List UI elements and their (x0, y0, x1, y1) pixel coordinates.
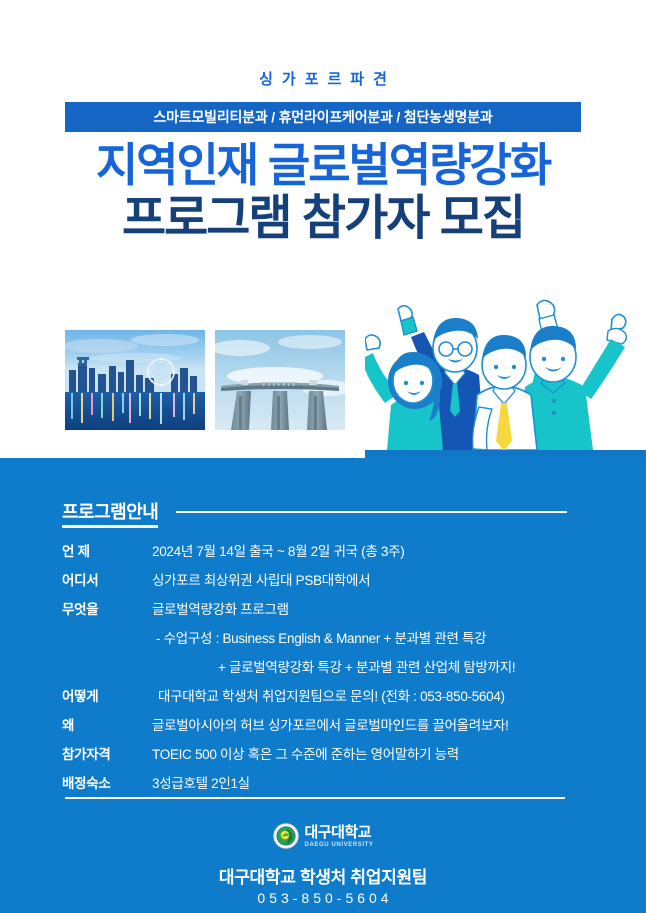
cheering-students-graphic (365, 295, 646, 470)
footer-phone: 053-850-5604 (0, 890, 646, 906)
info-label: 무엇을 (62, 598, 152, 618)
info-row: 언 제 2024년 7월 14일 출국 ~ 8월 2일 귀국 (총 3주) (62, 540, 602, 560)
departments-band-label: 스마트모빌리티분과 / 휴먼라이프케어분과 / 첨단농생명분과 (153, 107, 492, 127)
info-value: TOEIC 500 이상 혹은 그 수준에 준하는 영어말하기 능력 (152, 743, 459, 763)
university-logo: 대구대학교 DAEGU UNIVERSITY (0, 823, 646, 849)
info-label: 왜 (62, 714, 152, 734)
info-value: + 글로벌역량강화 특강 + 분과별 관련 산업체 탐방까지! (152, 656, 515, 676)
departments-band: 스마트모빌리티분과 / 휴먼라이프케어분과 / 첨단농생명분과 (65, 102, 581, 132)
info-value: 글로벌아시아의 허브 싱가포르에서 글로벌마인드를 끌어올려보자! (152, 714, 509, 734)
singapore-skyline-graphic (65, 330, 205, 430)
title-line-2: 프로그램 참가자 모집 (0, 192, 646, 246)
daegu-university-emblem-icon (273, 823, 299, 849)
title-line-1: 지역인재 글로벌역량강화 (0, 140, 646, 192)
logo-text: 대구대학교 DAEGU UNIVERSITY (305, 825, 374, 848)
logo-korean-name: 대구대학교 (305, 825, 374, 840)
info-label: 배정숙소 (62, 772, 152, 792)
recruitment-poster: 싱가포르파견 스마트모빌리티분과 / 휴먼라이프케어분과 / 첨단농생명분과 지… (0, 0, 646, 913)
info-row-sub: - 수업구성 : Business English & Manner + 분과별… (62, 627, 602, 647)
info-label: 참가자격 (62, 743, 152, 763)
program-info-section: 프로그램안내 언 제 2024년 7월 14일 출국 ~ 8월 2일 귀국 (총… (0, 458, 646, 913)
info-row: 왜 글로벌아시아의 허브 싱가포르에서 글로벌마인드를 끌어올려보자! (62, 714, 602, 734)
info-row-sub: + 글로벌역량강화 특강 + 분과별 관련 산업체 탐방까지! (62, 656, 602, 676)
info-value: 3성급호텔 2인1실 (152, 772, 250, 792)
cheering-students-illustration (365, 295, 646, 470)
info-label: 언 제 (62, 540, 152, 560)
poster-title: 지역인재 글로벌역량강화 프로그램 참가자 모집 (0, 140, 646, 245)
info-value: 2024년 7월 14일 출국 ~ 8월 2일 귀국 (총 3주) (152, 540, 404, 560)
info-label: 어디서 (62, 569, 152, 589)
info-row: 참가자격 TOEIC 500 이상 혹은 그 수준에 준하는 영어말하기 능력 (62, 743, 602, 763)
photo-singapore-skyline (65, 330, 205, 430)
info-value: - 수업구성 : Business English & Manner + 분과별… (152, 627, 486, 647)
footer-divider (65, 797, 565, 799)
eyebrow-text: 싱가포르파견 (0, 68, 646, 89)
photo-marina-bay-sands (215, 330, 345, 430)
program-info-heading-label: 프로그램안내 (62, 498, 158, 528)
info-value: 대구대학교 학생처 취업지원팀으로 문의! (전화 : 053-850-5604… (152, 685, 505, 705)
info-row: 어디서 싱가포르 최상위권 사립대 PSB대학에서 (62, 569, 602, 589)
footer-organization: 대구대학교 학생처 취업지원팀 (0, 863, 646, 888)
logo-english-name: DAEGU UNIVERSITY (305, 842, 374, 848)
info-row: 어떻게 대구대학교 학생처 취업지원팀으로 문의! (전화 : 053-850-… (62, 685, 602, 705)
heading-rule (176, 511, 567, 513)
program-info-heading: 프로그램안내 (62, 498, 567, 528)
info-value: 싱가포르 최상위권 사립대 PSB대학에서 (152, 569, 370, 589)
info-row: 무엇을 글로벌역량강화 프로그램 (62, 598, 602, 618)
marina-bay-sands-graphic (215, 330, 345, 430)
program-info-list: 언 제 2024년 7월 14일 출국 ~ 8월 2일 귀국 (총 3주) 어디… (62, 540, 602, 801)
info-label: 어떻게 (62, 685, 152, 705)
info-row: 배정숙소 3성급호텔 2인1실 (62, 772, 602, 792)
info-value: 글로벌역량강화 프로그램 (152, 598, 289, 618)
